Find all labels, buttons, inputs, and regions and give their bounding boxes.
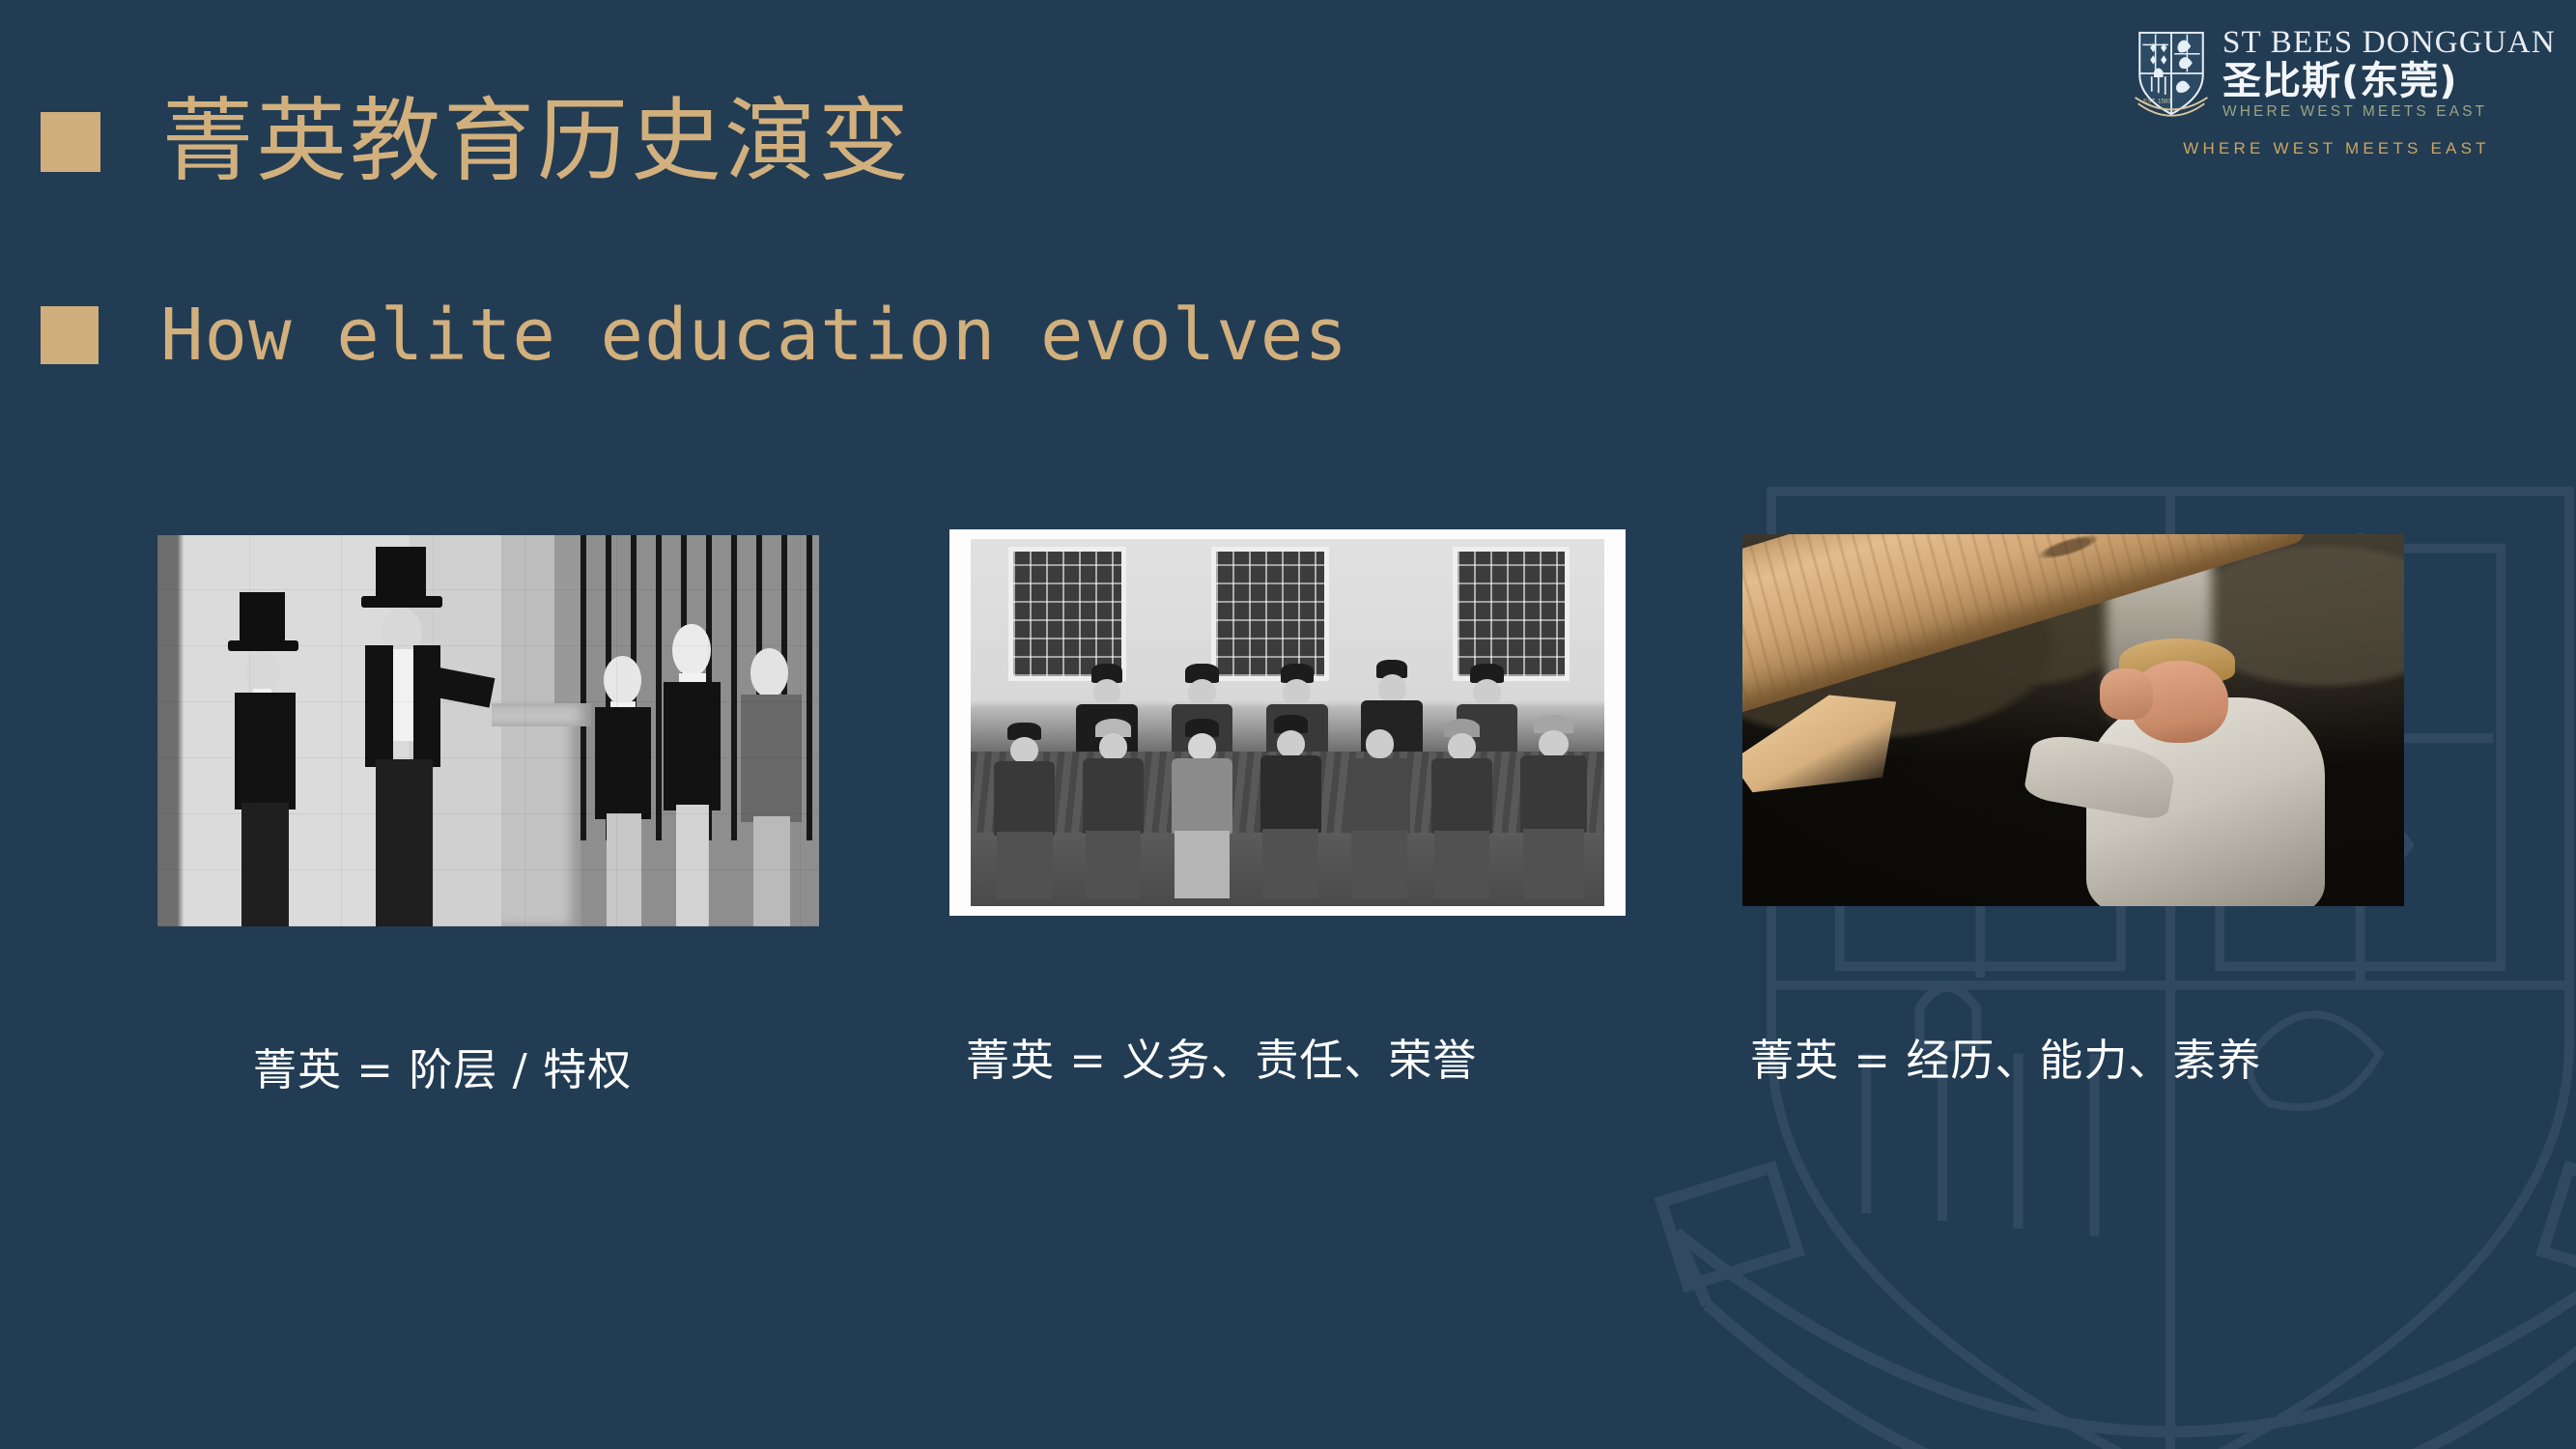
page-title-en: How elite education evolves bbox=[160, 299, 1348, 371]
logo-name-en: ST BEES DONGGUAN bbox=[2222, 27, 2556, 59]
logo-tagline: WHERE WEST MEETS EAST bbox=[2134, 139, 2539, 158]
caption-elite-duty-responsibility-honour: 菁英 = 义务、责任、荣誉 bbox=[966, 1032, 1545, 1090]
caption-elite-class-privilege: 菁英 = 阶层 / 特权 bbox=[253, 1041, 852, 1099]
photo-student-carrying-log bbox=[1742, 534, 2404, 906]
crest-est-text: EST. 1583 bbox=[2143, 98, 2171, 104]
gold-square-bullet-icon bbox=[41, 112, 100, 172]
logo-name-cn: 圣比斯(东莞) bbox=[2222, 62, 2556, 100]
caption-elite-experience-ability-quality: 菁英 = 经历、能力、素养 bbox=[1750, 1032, 2330, 1090]
slide-title-row-cn: 菁英教育历史演变 bbox=[41, 97, 912, 187]
slide-title-row-en: How elite education evolves bbox=[41, 299, 1348, 371]
logo-motto-en: WHERE WEST MEETS EAST bbox=[2222, 104, 2556, 120]
slide-canvas: INGREDERE UT PROFICIAS bbox=[0, 0, 2576, 1449]
photo-military-officers-group bbox=[949, 529, 1626, 916]
gold-square-bullet-icon bbox=[41, 306, 99, 364]
school-logo: EST. 1583 ST BEES DONGGUAN 圣比斯(东莞) WHERE… bbox=[2134, 27, 2539, 158]
page-title-cn: 菁英教育历史演变 bbox=[162, 97, 912, 187]
photo-toffs-and-toughs bbox=[157, 535, 819, 926]
st-bees-crest-icon: EST. 1583 bbox=[2134, 28, 2209, 119]
